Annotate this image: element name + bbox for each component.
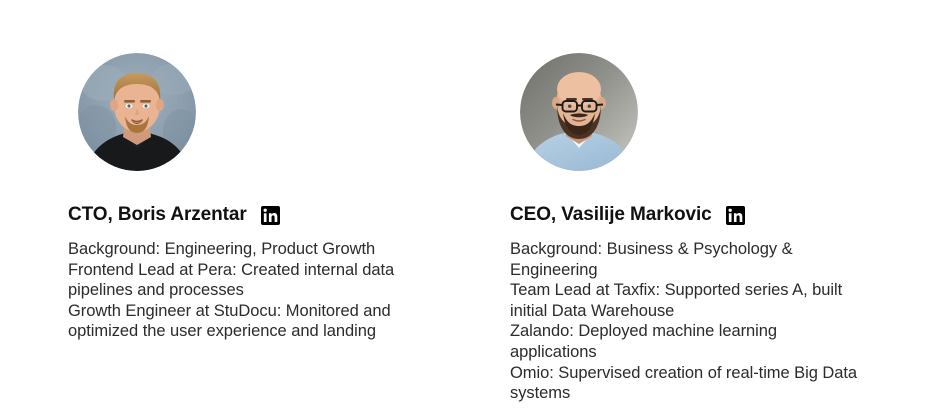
profile-bio: Background: Business & Psychology & Engi…: [510, 239, 860, 404]
bio-line: Zalando: Deployed machine learning appli…: [510, 321, 860, 362]
avatar: [78, 53, 196, 171]
linkedin-icon[interactable]: [261, 206, 280, 225]
bio-line: Omio: Supervised creation of real-time B…: [510, 363, 860, 404]
linkedin-icon[interactable]: [726, 206, 745, 225]
profile-card-boris-arzentar: CTO, Boris Arzentar Background: Engineer…: [68, 0, 468, 342]
profile-name: CEO, Vasilije Markovic: [510, 203, 712, 227]
avatar: [520, 53, 638, 171]
bio-line: Frontend Lead at Pera: Created internal …: [68, 260, 413, 301]
bio-line: Growth Engineer at StuDocu: Monitored an…: [68, 301, 413, 342]
team-profiles-section: CTO, Boris Arzentar Background: Engineer…: [0, 0, 948, 412]
profile-bio: Background: Engineering, Product Growth …: [68, 239, 413, 342]
profile-name: CTO, Boris Arzentar: [68, 203, 247, 227]
profile-heading: CTO, Boris Arzentar: [68, 203, 468, 227]
bio-line: Background: Engineering, Product Growth: [68, 239, 413, 260]
profile-card-vasilije-markovic: CEO, Vasilije Markovic Background: Busin…: [510, 0, 910, 404]
bio-line: Background: Business & Psychology & Engi…: [510, 239, 860, 280]
bio-line: Team Lead at Taxfix: Supported series A,…: [510, 280, 860, 321]
profile-heading: CEO, Vasilije Markovic: [510, 203, 910, 227]
